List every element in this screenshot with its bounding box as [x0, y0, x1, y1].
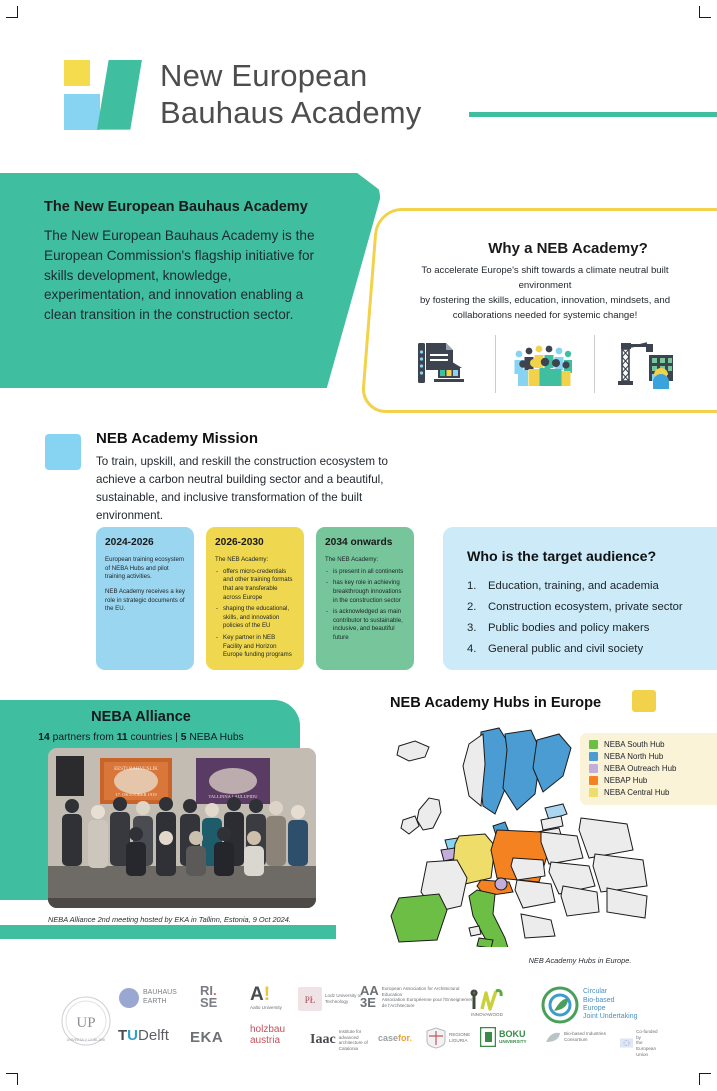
- partner-caption: Aalto University: [250, 1005, 282, 1011]
- timeline-card-2: 2026-2030 The NEB Academy: offers micro-…: [206, 527, 304, 670]
- timeline-card-1-para-1: European training ecosystem of NEBA Hubs…: [105, 556, 185, 582]
- legend-swatch: [589, 788, 598, 797]
- alliance-title: NEBA Alliance: [0, 709, 282, 725]
- partner-logo-tu-delft: TUDelft: [118, 1027, 169, 1044]
- partner-logo-holzbau-austria: holzbau austria: [250, 1025, 285, 1046]
- target-audience-panel: Who is the target audience? 1.Education,…: [443, 527, 717, 670]
- timeline-card-3-period: 2034 onwards: [325, 537, 405, 548]
- partner-caption: holzbau austria: [250, 1025, 285, 1046]
- svg-text:17. OKTOOBER 1919: 17. OKTOOBER 1919: [115, 792, 157, 797]
- partner-caption: REGIONE LIGURIA: [449, 1032, 470, 1043]
- alliance-stats: 14 partners from 11 countries | 5 NEBA H…: [0, 732, 282, 743]
- legend-label: NEBA Central Hub: [604, 788, 669, 797]
- why-title: Why a NEB Academy?: [443, 240, 693, 257]
- crop-mark-top-left: [6, 6, 28, 28]
- legend-item-neba-north-hub: NEBA North Hub: [589, 752, 711, 761]
- intro-title: The New European Bauhaus Academy: [44, 198, 334, 217]
- partner-logo-iaac: Iaac Institute for advanced architecture…: [310, 1029, 373, 1052]
- legend-swatch: [589, 764, 598, 773]
- partner-logo-regione-liguria: REGIONE LIGURIA: [426, 1027, 470, 1049]
- partner-caption: Bio-based Industries Consortium: [564, 1031, 606, 1042]
- partner-logo-bio-based-industries-consortium: Bio-based Industries Consortium: [545, 1031, 606, 1043]
- target-audience-title: Who is the target audience?: [467, 549, 715, 565]
- timeline-card-1-body: European training ecosystem of NEBA Hubs…: [105, 556, 185, 614]
- svg-text:EESTI RAHVUSLIK: EESTI RAHVUSLIK: [114, 767, 158, 772]
- why-icon-row: [400, 328, 690, 400]
- partner-logo-innovawood: INNOVAWOOD: [470, 987, 504, 1018]
- legend-swatch: [589, 776, 598, 785]
- logo-wordmark: New European Bauhaus Academy: [160, 58, 422, 131]
- target-audience-list: 1.Education, training, and academia 2.Co…: [467, 576, 715, 660]
- svg-text:UP: UP: [76, 1015, 95, 1031]
- logo-mark-icon: [64, 60, 142, 130]
- map-accent-square: [632, 690, 656, 712]
- legend-label: NEBA North Hub: [604, 752, 663, 761]
- timeline-card-1-para-2: NEB Academy receives a key role in strat…: [105, 588, 185, 614]
- alliance-photo-caption: NEBA Alliance 2nd meeting hosted by EKA …: [48, 915, 338, 924]
- map-title: NEB Academy Hubs in Europe: [390, 695, 601, 711]
- logo-line-2: Bauhaus Academy: [160, 95, 422, 132]
- construction-crane-worker-icon: [604, 331, 686, 397]
- partner-logo-circular-bio-based-europe: Circular Bio-based Europe Joint Undertak…: [540, 985, 637, 1025]
- mission-accent-square: [45, 434, 81, 470]
- legend-item-neba-central-hub: NEBA Central Hub: [589, 788, 711, 797]
- partner-logo-eka: EKA: [190, 1029, 223, 1046]
- alliance-group-photo: EESTI RAHVUSLIK 17. OKTOOBER 1919 TALLIN…: [48, 748, 316, 908]
- crop-mark-bottom-right: [689, 1063, 711, 1085]
- why-body: To accelerate Europe's shift towards a c…: [395, 264, 695, 323]
- partner-logo-rise: RI.SE: [200, 985, 217, 1010]
- legend-swatch: [589, 752, 598, 761]
- mission-body: To train, upskill, and reskill the const…: [96, 453, 428, 525]
- partner-logos-row: UP UNIVERZA V LJUBLJANI BAUHAUS EARTH RI…: [60, 985, 660, 1060]
- partner-logo-boku-university: BOKUUNIVERSITY: [480, 1027, 527, 1047]
- legend-label: NEBAP Hub: [604, 776, 647, 785]
- timeline-card-1: 2024-2026 European training ecosystem of…: [96, 527, 194, 670]
- timeline-card-3-intro: The NEB Academy:: [325, 556, 405, 565]
- alliance-divider: |: [175, 732, 178, 743]
- legend-item-neba-outreach-hub: NEBA Outreach Hub: [589, 764, 711, 773]
- map-caption: NEB Academy Hubs in Europe.: [450, 956, 710, 965]
- alliance-hubs-word: NEBA Hubs: [189, 732, 243, 743]
- svg-text:PŁ: PŁ: [305, 995, 316, 1005]
- partner-logo-eaae: AA3E European Association for Architectu…: [360, 985, 478, 1010]
- header-rule: [469, 112, 717, 117]
- partner-caption: Co-funded by the European Union: [636, 1029, 663, 1058]
- timeline-card-2-body: The NEB Academy: offers micro-credential…: [215, 556, 295, 660]
- partner-caption: European Association for Architectural E…: [382, 986, 478, 1009]
- list-item: 1.Education, training, and academia: [467, 576, 715, 597]
- map-legend: NEBA South Hub NEBA North Hub NEBA Outre…: [580, 733, 717, 805]
- mission-title: NEB Academy Mission: [96, 430, 258, 447]
- intro-body: The New European Bauhaus Academy is the …: [44, 226, 334, 325]
- list-item: is acknowledged as main contributor to s…: [325, 608, 405, 643]
- partner-caption: Lodz University of Technology: [325, 993, 365, 1004]
- partner-logo-aalto-university: A! Aalto University: [250, 985, 282, 1011]
- neb-academy-logo: New European Bauhaus Academy: [64, 58, 422, 131]
- poster-page: New European Bauhaus Academy The New Eur…: [0, 0, 717, 1091]
- list-item: is present in all continents: [325, 568, 405, 577]
- policy-document-building-icon: [404, 331, 486, 397]
- intro-panel-content: The New European Bauhaus Academy The New…: [44, 198, 334, 325]
- legend-label: NEBA South Hub: [604, 740, 665, 749]
- list-item: 3.Public bodies and policy makers: [467, 618, 715, 639]
- icon-divider-1: [495, 335, 496, 393]
- partner-caption: Institute for advanced architecture of C…: [339, 1029, 373, 1052]
- timeline-card-1-period: 2024-2026: [105, 537, 185, 548]
- alliance-countries-count: 11: [117, 732, 128, 743]
- alliance-hubs-count: 5: [181, 732, 187, 743]
- timeline-card-3: 2034 onwards The NEB Academy: is present…: [316, 527, 414, 670]
- people-crowd-icon: [504, 331, 586, 397]
- logo-yellow-square: [64, 60, 90, 86]
- alliance-countries-word: countries: [131, 732, 173, 743]
- partner-caption: UNIVERSITY: [499, 1039, 527, 1045]
- list-item: 4.General public and civil society: [467, 639, 715, 660]
- list-item: Key partner in NEB Facility and Horizon …: [215, 634, 295, 660]
- partner-logo-lodz-university: PŁ Lodz University of Technology: [298, 987, 365, 1011]
- alliance-partners-word: partners from: [53, 732, 114, 743]
- legend-item-nebap-hub: NEBAP Hub: [589, 776, 711, 785]
- timeline-card-2-intro: The NEB Academy:: [215, 556, 295, 565]
- icon-divider-2: [594, 335, 595, 393]
- alliance-bottom-bar: [0, 925, 336, 939]
- partner-logo-casefor: casefor.: [378, 1033, 412, 1043]
- partner-logo-university-of-ljubljana: UP UNIVERZA V LJUBLJANI: [60, 995, 112, 1047]
- legend-swatch: [589, 740, 598, 749]
- alliance-partners-count: 14: [38, 732, 49, 743]
- logo-blue-square: [64, 94, 100, 130]
- list-item: 2.Construction ecosystem, private sector: [467, 597, 715, 618]
- partner-caption: Circular Bio-based Europe Joint Undertak…: [583, 988, 637, 1022]
- crop-mark-top-right: [689, 6, 711, 28]
- list-item: offers micro-credentials and other train…: [215, 568, 295, 603]
- list-item: shaping the educational, skills, and inn…: [215, 605, 295, 631]
- legend-label: NEBA Outreach Hub: [604, 764, 676, 773]
- logo-teal-slash: [97, 60, 142, 130]
- partner-logo-co-funded-by-eu: Co-funded by the European Union: [620, 1029, 663, 1058]
- partner-caption: BAUHAUS EARTH: [143, 989, 177, 1007]
- logo-line-1: New European: [160, 58, 422, 95]
- legend-item-neba-south-hub: NEBA South Hub: [589, 740, 711, 749]
- timeline-card-2-period: 2026-2030: [215, 537, 295, 548]
- list-item: has key role in achieving breakthrough i…: [325, 579, 405, 605]
- timeline-card-3-body: The NEB Academy: is present in all conti…: [325, 556, 405, 643]
- svg-text:UNIVERZA V LJUBLJANI: UNIVERZA V LJUBLJANI: [67, 1038, 106, 1042]
- partner-caption: INNOVAWOOD: [471, 1012, 503, 1018]
- partner-logo-bauhaus-earth: BAUHAUS EARTH: [118, 987, 177, 1009]
- crop-mark-bottom-left: [6, 1063, 28, 1085]
